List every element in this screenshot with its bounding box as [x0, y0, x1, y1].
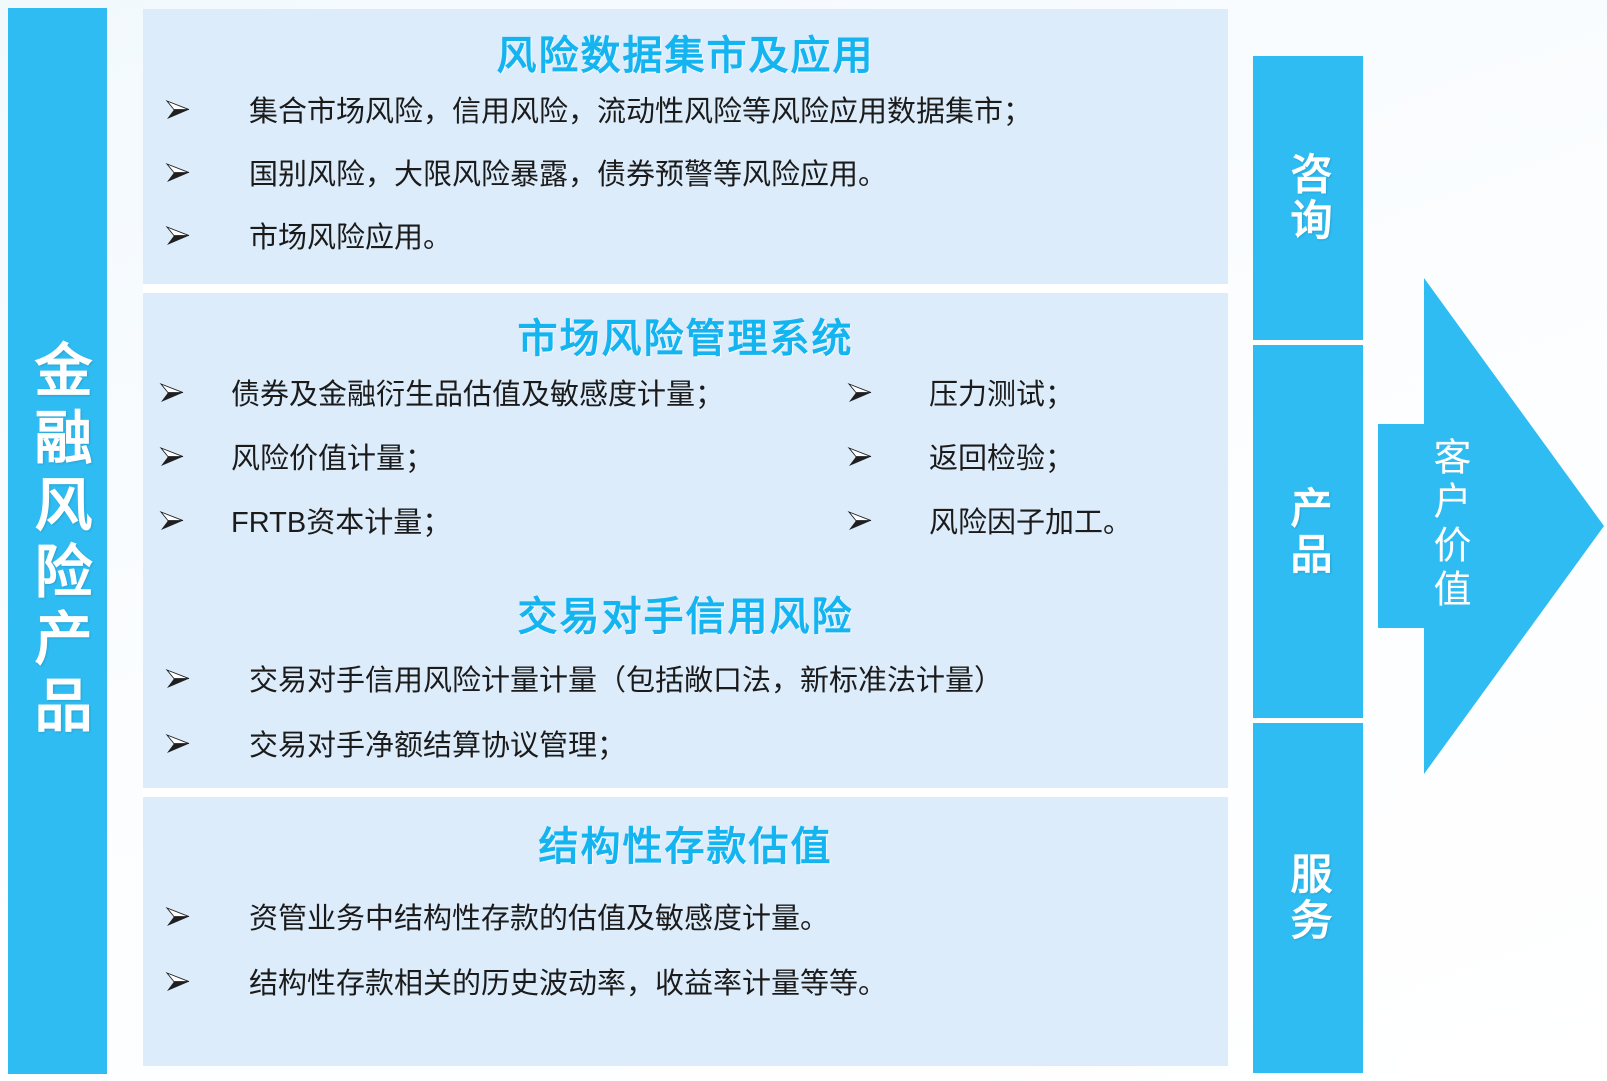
- list-item-label: 资管业务中结构性存款的估值及敏感度计量。: [249, 905, 1228, 934]
- bullet-list: 集合市场风险，信用风险，流动性风险等风险应用数据集市； 国别风险，大限风险暴露，…: [143, 76, 1228, 253]
- list-item-label: 债券及金融衍生品估值及敏感度计量；: [231, 381, 843, 410]
- value-chain-block-product: 产品: [1253, 345, 1363, 718]
- list-item: 压力测试；: [843, 381, 1228, 410]
- section-title: 交易对手信用风险: [143, 574, 1228, 637]
- bullet-arrow-icon: [165, 98, 191, 122]
- section-panel-counterparty-credit-risk: 交易对手信用风险 交易对手信用风险计量计量（包括敞口法，新标准法计量）: [143, 574, 1228, 788]
- value-chain-block-consulting: 咨询: [1253, 56, 1363, 340]
- list-item: FRTB资本计量；: [143, 509, 843, 538]
- left-banner: 金融风险产品: [8, 8, 107, 1074]
- list-item: 风险因子加工。: [843, 509, 1228, 538]
- bullet-arrow-icon: [165, 905, 191, 929]
- list-item-label: 交易对手信用风险计量计量（包括敞口法，新标准法计量）: [249, 667, 1228, 696]
- list-item-label: 风险因子加工。: [929, 509, 1228, 538]
- section-title: 结构性存款估值: [143, 797, 1228, 867]
- list-item: 市场风险应用。: [143, 224, 1228, 253]
- list-item-label: 市场风险应用。: [249, 224, 1228, 253]
- content-panel-stack: 风险数据集市及应用 集合市场风险，信用风险，流动性风险等风险应用数据集市；: [143, 9, 1228, 1075]
- list-item-label: FRTB资本计量；: [231, 509, 843, 538]
- bullet-arrow-icon: [165, 732, 191, 756]
- list-item: 结构性存款相关的历史波动率，收益率计量等等。: [143, 970, 1228, 999]
- bullet-column-left: 债券及金融衍生品估值及敏感度计量； 风险价值计量；: [143, 381, 843, 573]
- list-item: 国别风险，大限风险暴露，债券预警等风险应用。: [143, 161, 1228, 190]
- list-item: 风险价值计量；: [143, 445, 843, 474]
- section-panel-market-risk-system: 市场风险管理系统 债券及金融衍生品估值及敏感度计量；: [143, 293, 1228, 574]
- bullet-arrow-icon: [159, 445, 185, 469]
- list-item: 资管业务中结构性存款的估值及敏感度计量。: [143, 905, 1228, 934]
- list-item-label: 集合市场风险，信用风险，流动性风险等风险应用数据集市；: [249, 98, 1228, 127]
- slide-canvas: 金融风险产品 风险数据集市及应用 集合市场风险，信用风险，流动性风险等风险应用数…: [0, 0, 1607, 1081]
- list-item-label: 压力测试；: [929, 381, 1228, 410]
- section-title: 市场风险管理系统: [143, 293, 1228, 359]
- section-title: 风险数据集市及应用: [143, 9, 1228, 76]
- bullet-arrow-icon: [165, 667, 191, 691]
- left-banner-label: 金融风险产品: [29, 340, 87, 742]
- panel-divider: [143, 284, 1228, 293]
- value-chain-column: 咨询 产品 服务: [1253, 56, 1363, 1073]
- value-chain-block-service: 服务: [1253, 723, 1363, 1073]
- bullet-arrow-icon: [847, 509, 873, 533]
- list-item: 交易对手净额结算协议管理；: [143, 732, 1228, 761]
- bullet-arrow-icon: [159, 381, 185, 405]
- section-panel-structured-deposit-valuation: 结构性存款估值 资管业务中结构性存款的估值及敏感度计量。: [143, 797, 1228, 1066]
- list-item: 集合市场风险，信用风险，流动性风险等风险应用数据集市；: [143, 98, 1228, 127]
- bullet-arrow-icon: [165, 161, 191, 185]
- list-item: 债券及金融衍生品估值及敏感度计量；: [143, 381, 843, 410]
- list-item-label: 风险价值计量；: [231, 445, 843, 474]
- list-item-label: 结构性存款相关的历史波动率，收益率计量等等。: [249, 970, 1228, 999]
- value-chain-block-label: 咨询: [1287, 152, 1329, 244]
- value-chain-block-label: 产品: [1287, 486, 1329, 578]
- value-chain-block-label: 服务: [1287, 852, 1329, 944]
- section-panel-risk-data-mart: 风险数据集市及应用 集合市场风险，信用风险，流动性风险等风险应用数据集市；: [143, 9, 1228, 284]
- bullet-arrow-icon: [165, 970, 191, 994]
- bullet-list: 交易对手信用风险计量计量（包括敞口法，新标准法计量） 交易对手净额结算协议管理；: [143, 637, 1228, 761]
- bullet-list: 资管业务中结构性存款的估值及敏感度计量。 结构性存款相关的历史波动率，收益率计量…: [143, 867, 1228, 999]
- bullet-arrow-icon: [847, 381, 873, 405]
- bullet-column-right: 压力测试； 返回检验；: [843, 381, 1228, 573]
- list-item: 交易对手信用风险计量计量（包括敞口法，新标准法计量）: [143, 667, 1228, 696]
- right-arrow-icon: [1378, 278, 1604, 774]
- list-item: 返回检验；: [843, 445, 1228, 474]
- bullet-arrow-icon: [165, 224, 191, 248]
- panel-divider: [143, 788, 1228, 797]
- list-item-label: 交易对手净额结算协议管理；: [249, 732, 1228, 761]
- bullet-columns: 债券及金融衍生品估值及敏感度计量； 风险价值计量；: [143, 359, 1228, 573]
- bullet-arrow-icon: [847, 445, 873, 469]
- list-item-label: 返回检验；: [929, 445, 1228, 474]
- list-item-label: 国别风险，大限风险暴露，债券预警等风险应用。: [249, 161, 1228, 190]
- bullet-arrow-icon: [159, 509, 185, 533]
